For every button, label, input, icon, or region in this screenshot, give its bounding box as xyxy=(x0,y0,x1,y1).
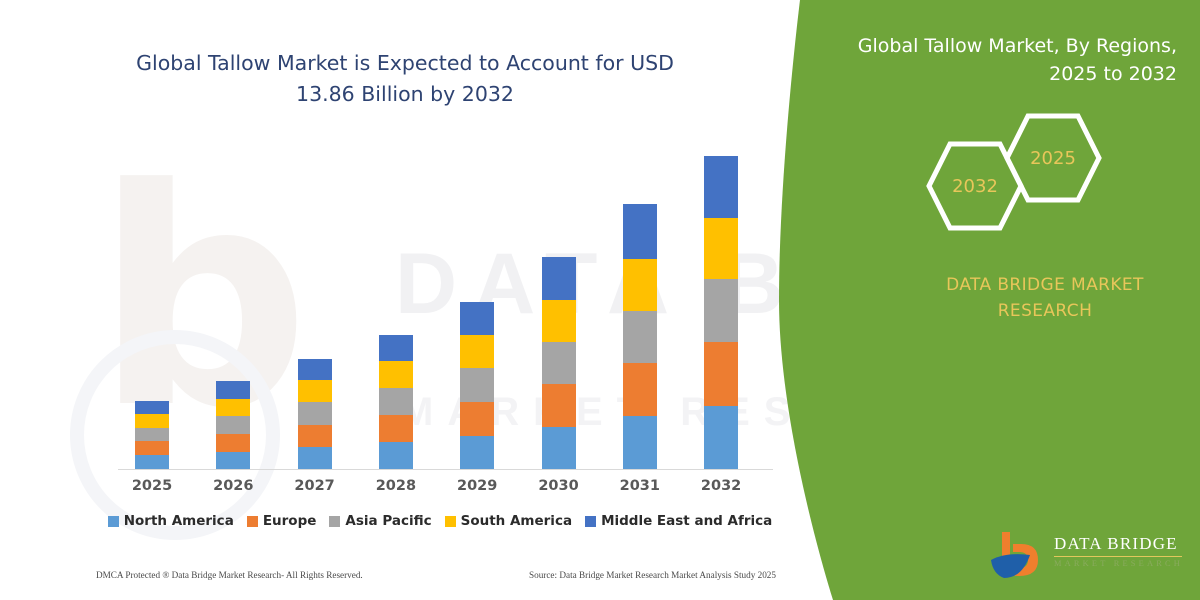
footer-source-text: Source: Data Bridge Market Research Mark… xyxy=(529,570,776,580)
logo-sub-text: MARKET RESEARCH xyxy=(1054,559,1188,568)
bar-segment-south-america-2030 xyxy=(542,300,576,342)
bar-segment-north-america-2027 xyxy=(298,447,332,469)
bar-segment-europe-2031 xyxy=(623,363,657,416)
logo-mark-icon xyxy=(988,530,1050,582)
bar-segment-north-america-2032 xyxy=(704,406,738,469)
bar-segment-europe-2030 xyxy=(542,384,576,427)
bar-segment-south-america-2026 xyxy=(216,399,250,416)
bar-segment-asia-pacific-2026 xyxy=(216,416,250,434)
panel-brand-line2: RESEARCH xyxy=(905,298,1185,324)
bar-segment-asia-pacific-2030 xyxy=(542,342,576,384)
bar-segment-middle-east-and-africa-2030 xyxy=(542,257,576,300)
bar-group-2031 xyxy=(623,204,657,469)
legend-swatch-icon xyxy=(329,516,340,527)
bar-segment-south-america-2031 xyxy=(623,259,657,311)
bar-group-2029 xyxy=(460,302,494,469)
bar-segment-north-america-2029 xyxy=(460,436,494,469)
bar-segment-south-america-2025 xyxy=(135,414,169,428)
panel-brand-text: DATA BRIDGE MARKET RESEARCH xyxy=(905,272,1185,324)
bar-segment-middle-east-and-africa-2032 xyxy=(704,156,738,218)
legend-label: Middle East and Africa xyxy=(601,513,772,529)
bar-group-2032 xyxy=(704,156,738,469)
bar-segment-middle-east-and-africa-2027 xyxy=(298,359,332,380)
hexagon-2025: 2025 xyxy=(1003,108,1103,208)
hexagon-2025-label: 2025 xyxy=(1003,108,1103,208)
logo-divider xyxy=(1054,556,1182,557)
x-tick-2031: 2031 xyxy=(610,478,670,494)
chart-legend: North AmericaEuropeAsia PacificSouth Ame… xyxy=(110,513,770,529)
data-bridge-logo: DATA BRIDGE MARKET RESEARCH xyxy=(988,528,1188,588)
bar-segment-north-america-2031 xyxy=(623,416,657,469)
bar-segment-middle-east-and-africa-2025 xyxy=(135,401,169,414)
bar-segment-asia-pacific-2029 xyxy=(460,368,494,402)
bar-segment-asia-pacific-2032 xyxy=(704,279,738,342)
hexagon-group: 2032 2025 xyxy=(925,108,1115,228)
bar-segment-south-america-2032 xyxy=(704,218,738,279)
bar-segment-north-america-2030 xyxy=(542,427,576,469)
legend-item-europe[interactable]: Europe xyxy=(247,513,317,529)
bar-segment-south-america-2027 xyxy=(298,380,332,402)
legend-label: South America xyxy=(461,513,572,529)
bar-segment-asia-pacific-2031 xyxy=(623,311,657,363)
x-tick-2028: 2028 xyxy=(366,478,426,494)
bar-group-2026 xyxy=(216,381,250,469)
legend-item-asia-pacific[interactable]: Asia Pacific xyxy=(329,513,431,529)
legend-item-south-america[interactable]: South America xyxy=(445,513,572,529)
x-tick-2032: 2032 xyxy=(691,478,751,494)
bar-segment-asia-pacific-2028 xyxy=(379,388,413,415)
bar-group-2028 xyxy=(379,335,413,469)
legend-item-middle-east-and-africa[interactable]: Middle East and Africa xyxy=(585,513,772,529)
x-tick-2026: 2026 xyxy=(203,478,263,494)
bar-segment-europe-2025 xyxy=(135,441,169,455)
bar-segment-middle-east-and-africa-2031 xyxy=(623,204,657,259)
bar-segment-asia-pacific-2027 xyxy=(298,402,332,425)
bar-segment-middle-east-and-africa-2026 xyxy=(216,381,250,399)
bar-group-2030 xyxy=(542,257,576,469)
x-tick-2025: 2025 xyxy=(122,478,182,494)
bar-segment-south-america-2029 xyxy=(460,335,494,368)
page-title: Global Tallow Market is Expected to Acco… xyxy=(120,48,690,110)
bar-segment-middle-east-and-africa-2028 xyxy=(379,335,413,361)
stacked-bar-chart xyxy=(118,130,773,470)
legend-swatch-icon xyxy=(445,516,456,527)
legend-label: North America xyxy=(124,513,234,529)
bar-segment-asia-pacific-2025 xyxy=(135,428,169,441)
bar-segment-europe-2028 xyxy=(379,415,413,442)
footer: DMCA Protected ® Data Bridge Market Rese… xyxy=(96,570,776,580)
panel-title: Global Tallow Market, By Regions, 2025 t… xyxy=(855,32,1177,88)
bar-segment-middle-east-and-africa-2029 xyxy=(460,302,494,335)
footer-dmca-text: DMCA Protected ® Data Bridge Market Rese… xyxy=(96,570,363,580)
legend-swatch-icon xyxy=(585,516,596,527)
x-tick-2030: 2030 xyxy=(529,478,589,494)
x-axis-line xyxy=(118,469,773,470)
bar-group-2025 xyxy=(135,401,169,469)
panel-brand-line1: DATA BRIDGE MARKET xyxy=(905,272,1185,298)
bar-segment-north-america-2025 xyxy=(135,455,169,469)
bar-segment-europe-2026 xyxy=(216,434,250,452)
legend-item-north-america[interactable]: North America xyxy=(108,513,234,529)
bar-segment-europe-2029 xyxy=(460,402,494,436)
x-axis-labels: 20252026202720282029203020312032 xyxy=(118,478,773,500)
bar-segment-europe-2032 xyxy=(704,342,738,406)
logo-main-text: DATA BRIDGE xyxy=(1054,534,1188,554)
bar-group-2027 xyxy=(298,359,332,469)
legend-swatch-icon xyxy=(108,516,119,527)
logo-wordmark: DATA BRIDGE MARKET RESEARCH xyxy=(1054,534,1188,568)
bar-segment-europe-2027 xyxy=(298,425,332,447)
x-tick-2029: 2029 xyxy=(447,478,507,494)
legend-label: Asia Pacific xyxy=(345,513,431,529)
legend-label: Europe xyxy=(263,513,317,529)
bar-segment-north-america-2026 xyxy=(216,452,250,469)
legend-swatch-icon xyxy=(247,516,258,527)
bar-segment-north-america-2028 xyxy=(379,442,413,469)
bar-segment-south-america-2028 xyxy=(379,361,413,388)
x-tick-2027: 2027 xyxy=(285,478,345,494)
infographic-page: b DATA BRIDGE MARKET RESEARCH Global Tal… xyxy=(0,0,1200,600)
